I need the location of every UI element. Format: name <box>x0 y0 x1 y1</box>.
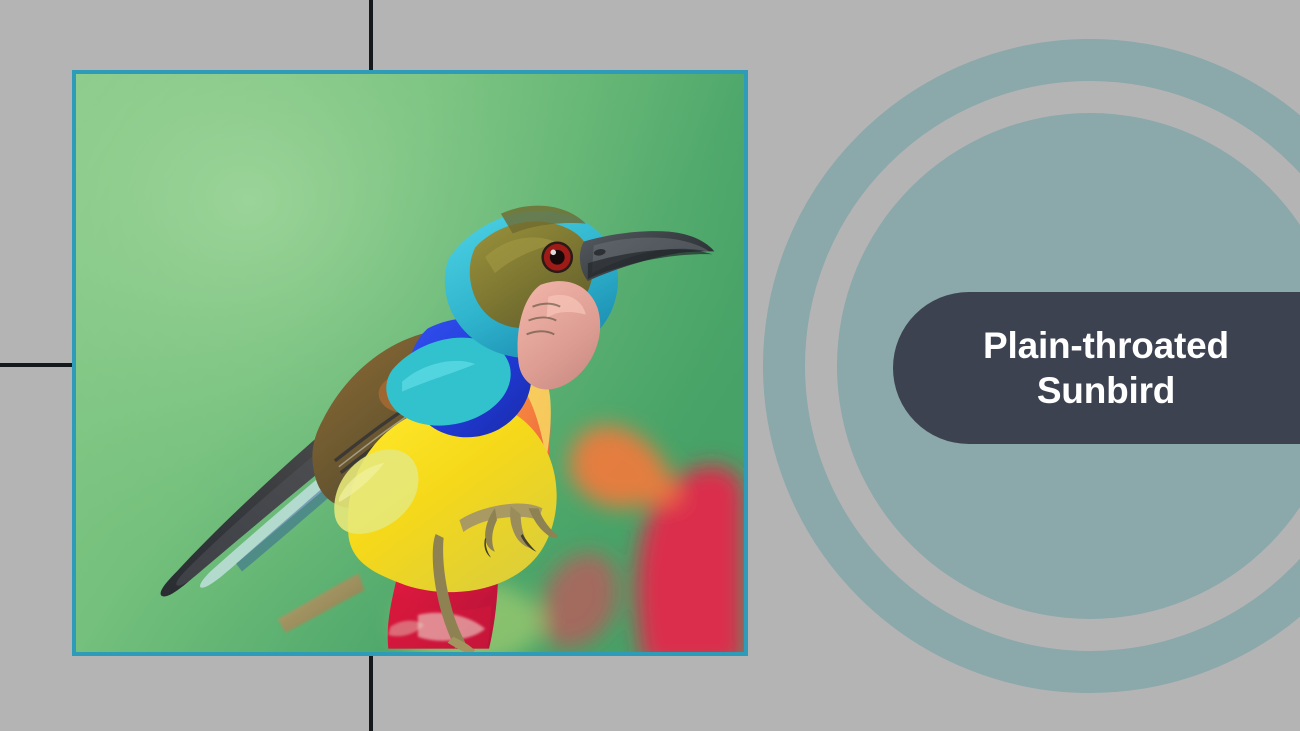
guide-rule-vertical-top <box>369 0 373 71</box>
page-title: Plain-throated Sunbird <box>945 323 1267 414</box>
title-line-1: Plain-throated <box>983 325 1229 366</box>
bird-photo <box>72 70 748 656</box>
species-title-pill: Plain-throated Sunbird <box>893 292 1300 444</box>
title-line-2: Sunbird <box>1037 370 1175 411</box>
guide-rule-horizontal-left <box>0 363 73 367</box>
guide-rule-vertical-bottom <box>369 656 373 731</box>
bird-photo-illustration <box>76 74 744 652</box>
slide-canvas: Plain-throated Sunbird <box>0 0 1300 731</box>
